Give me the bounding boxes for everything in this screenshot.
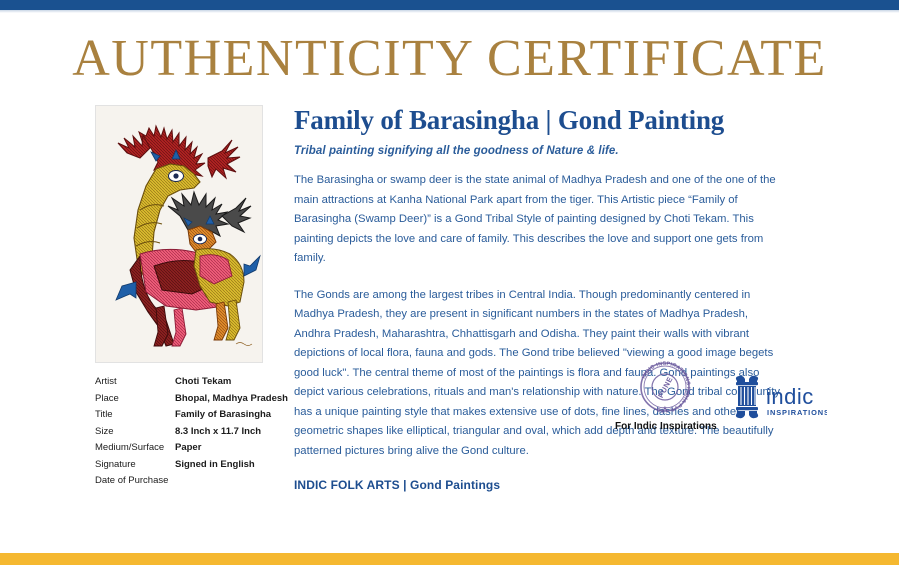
svg-text:★: ★: [662, 405, 667, 412]
table-row: Signature Signed in English: [95, 457, 295, 474]
brand-folk-arts-line: INDIC FOLK ARTS | Gond Paintings: [294, 478, 786, 492]
left-column: Artist Choti Tekam Place Bhopal, Madhya …: [95, 105, 265, 490]
artwork-title: Family of Barasingha | Gond Painting: [294, 105, 786, 136]
table-row: Artist Choti Tekam: [95, 374, 295, 391]
indic-inspirations-logo: indic INSPIRATIONS: [731, 373, 827, 421]
footer-marks: INDIC INSPIRATIONS INDIA PVT. LTD PUNE ★…: [615, 355, 830, 435]
table-row: Size 8.3 Inch x 11.7 Inch: [95, 424, 295, 441]
company-seal-stamp: INDIC INSPIRATIONS INDIA PVT. LTD PUNE ★: [633, 355, 697, 419]
top-accent-rule: [0, 0, 899, 10]
table-row: Title Family of Barasingha: [95, 407, 295, 424]
spec-label: Size: [95, 424, 175, 441]
spec-label: Signature: [95, 457, 175, 474]
svg-text:INSPIRATIONS: INSPIRATIONS: [767, 408, 827, 417]
svg-text:PUNE: PUNE: [656, 375, 675, 399]
table-row: Place Bhopal, Madhya Pradesh: [95, 391, 295, 408]
spec-label: Date of Purchase: [95, 473, 175, 490]
spec-value: 8.3 Inch x 11.7 Inch: [175, 424, 295, 441]
stamp-caption: For Indic Inspirations: [615, 421, 717, 432]
spec-value: Bhopal, Madhya Pradesh: [175, 391, 295, 408]
bottom-accent-rule: [0, 553, 899, 565]
svg-text:indic: indic: [766, 384, 814, 409]
spec-label: Title: [95, 407, 175, 424]
spec-value: Choti Tekam: [175, 374, 295, 391]
artwork-subtitle: Tribal painting signifying all the goodn…: [294, 145, 786, 157]
spec-value: [175, 473, 295, 490]
spec-label: Place: [95, 391, 175, 408]
table-row: Date of Purchase: [95, 473, 295, 490]
specifications-table: Artist Choti Tekam Place Bhopal, Madhya …: [95, 374, 295, 490]
page-title: AUTHENTICITY CERTIFICATE: [0, 30, 899, 88]
description-paragraph-1: The Barasingha or swamp deer is the stat…: [294, 171, 786, 269]
table-row: Medium/Surface Paper: [95, 440, 295, 457]
top-accent-shadow: [0, 10, 899, 13]
certificate-page: AUTHENTICITY CERTIFICATE: [0, 0, 899, 565]
artwork-image: [95, 105, 263, 363]
spec-label: Artist: [95, 374, 175, 391]
spec-value: Signed in English: [175, 457, 295, 474]
spec-value: Paper: [175, 440, 295, 457]
spec-label: Medium/Surface: [95, 440, 175, 457]
spec-value: Family of Barasingha: [175, 407, 295, 424]
